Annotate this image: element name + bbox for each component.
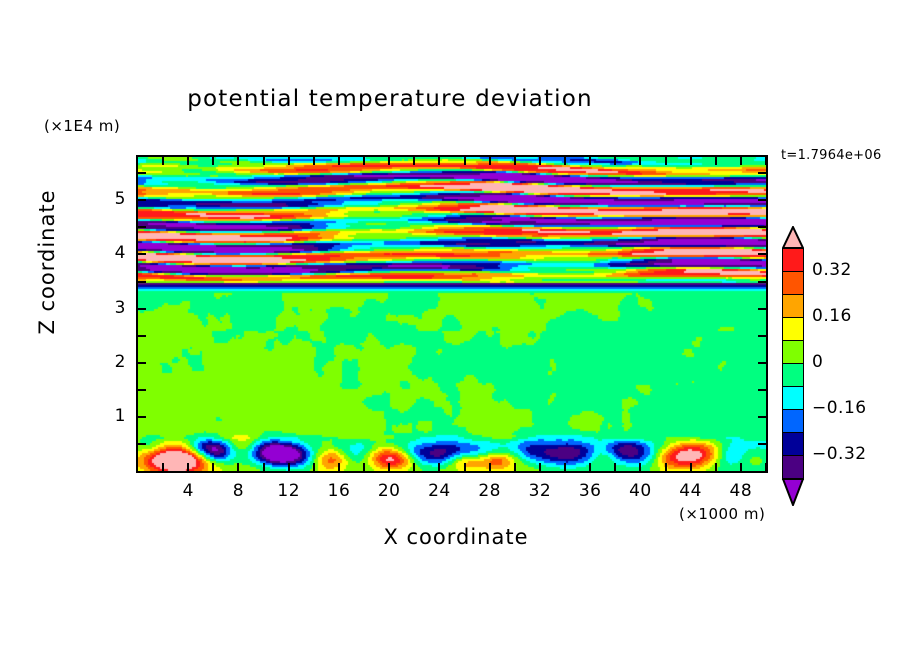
x-tick — [539, 463, 541, 471]
x-tick-top — [539, 157, 541, 165]
x-tick — [489, 463, 491, 471]
y-tick-right — [758, 281, 766, 283]
x-tick-top — [388, 157, 390, 165]
colorbar-band — [782, 340, 804, 365]
y-tick — [138, 308, 146, 310]
y-tick — [138, 172, 146, 174]
x-tick-label: 40 — [618, 481, 662, 501]
x-tick-top — [313, 157, 315, 165]
colorbar: 0.320.160−0.16−0.32 — [782, 226, 804, 505]
y-tick-right — [758, 253, 766, 255]
colorbar-over-arrow — [782, 226, 804, 248]
x-tick-top — [765, 157, 767, 165]
x-tick-top — [212, 157, 214, 165]
x-tick-top — [690, 157, 692, 165]
x-tick — [413, 463, 415, 471]
x-tick-label: 28 — [468, 481, 512, 501]
colorbar-band — [782, 294, 804, 319]
contour-field-canvas — [138, 157, 766, 471]
x-axis-title: X coordinate — [326, 525, 586, 549]
y-tick-right — [758, 416, 766, 418]
colorbar-band — [782, 409, 804, 434]
colorbar-band — [782, 432, 804, 457]
x-tick — [639, 463, 641, 471]
x-tick — [162, 463, 164, 471]
x-tick-top — [288, 157, 290, 165]
x-tick — [212, 463, 214, 471]
y-tick-label: 3 — [96, 298, 126, 318]
colorbar-tick-label: −0.32 — [812, 444, 867, 464]
x-tick — [464, 463, 466, 471]
y-tick-label: 1 — [96, 406, 126, 426]
x-tick — [765, 463, 767, 471]
x-tick-top — [639, 157, 641, 165]
x-tick-top — [564, 157, 566, 165]
y-tick — [138, 281, 146, 283]
x-tick-top — [740, 157, 742, 165]
y-tick — [138, 253, 146, 255]
x-tick — [740, 463, 742, 471]
y-tick-label: 5 — [96, 189, 126, 209]
y-axis-title: Z coordinate — [35, 182, 59, 342]
x-tick-top — [665, 157, 667, 165]
y-tick — [138, 226, 146, 228]
colorbar-band — [782, 386, 804, 411]
timestamp-label: t=1.7964e+06 — [781, 148, 882, 163]
x-tick — [263, 463, 265, 471]
y-tick-right — [758, 362, 766, 364]
y-tick-right — [758, 335, 766, 337]
colorbar-band — [782, 455, 804, 480]
x-tick — [564, 463, 566, 471]
y-tick-right — [758, 172, 766, 174]
y-axis-unit-label: (×1E4 m) — [44, 117, 120, 135]
x-tick — [514, 463, 516, 471]
x-tick-label: 4 — [166, 481, 210, 501]
colorbar-under-arrow — [782, 478, 804, 506]
x-tick-top — [413, 157, 415, 165]
x-tick-top — [162, 157, 164, 165]
x-tick-top — [589, 157, 591, 165]
x-tick — [338, 463, 340, 471]
x-tick-label: 44 — [669, 481, 713, 501]
x-tick-top — [363, 157, 365, 165]
contour-plot-area — [136, 155, 768, 473]
x-axis-unit-label: (×1000 m) — [679, 505, 765, 523]
x-tick-top — [514, 157, 516, 165]
x-tick — [363, 463, 365, 471]
x-tick-top — [614, 157, 616, 165]
y-tick-label: 4 — [96, 243, 126, 263]
y-tick — [138, 416, 146, 418]
x-tick — [388, 463, 390, 471]
x-tick — [187, 463, 189, 471]
colorbar-band — [782, 317, 804, 342]
x-tick — [589, 463, 591, 471]
y-tick — [138, 199, 146, 201]
y-tick — [138, 389, 146, 391]
x-tick — [715, 463, 717, 471]
colorbar-tick-label: −0.16 — [812, 398, 867, 418]
page-title: potential temperature deviation — [0, 86, 780, 112]
x-tick-top — [263, 157, 265, 165]
x-tick — [237, 463, 239, 471]
x-tick — [690, 463, 692, 471]
x-tick-label: 8 — [216, 481, 260, 501]
x-tick-label: 12 — [267, 481, 311, 501]
colorbar-band — [782, 248, 804, 273]
x-tick-top — [464, 157, 466, 165]
x-tick-top — [187, 157, 189, 165]
x-tick-label: 36 — [568, 481, 612, 501]
colorbar-tick-label: 0 — [812, 352, 823, 372]
y-tick-right — [758, 226, 766, 228]
x-tick-top — [489, 157, 491, 165]
x-tick-label: 20 — [367, 481, 411, 501]
x-tick-top — [715, 157, 717, 165]
x-tick-top — [237, 157, 239, 165]
y-tick — [138, 335, 146, 337]
x-tick — [438, 463, 440, 471]
x-tick — [665, 463, 667, 471]
y-tick-right — [758, 389, 766, 391]
x-tick — [288, 463, 290, 471]
y-tick — [138, 362, 146, 364]
x-tick — [614, 463, 616, 471]
x-tick-label: 48 — [719, 481, 763, 501]
x-tick — [313, 463, 315, 471]
x-tick-top — [438, 157, 440, 165]
colorbar-tick-label: 0.32 — [812, 260, 852, 280]
x-tick-label: 32 — [518, 481, 562, 501]
y-tick-right — [758, 443, 766, 445]
y-tick-label: 2 — [96, 352, 126, 372]
x-tick-label: 16 — [317, 481, 361, 501]
y-tick — [138, 443, 146, 445]
colorbar-band — [782, 271, 804, 296]
y-tick-right — [758, 199, 766, 201]
x-tick-label: 24 — [417, 481, 461, 501]
y-tick-right — [758, 308, 766, 310]
colorbar-band — [782, 363, 804, 388]
colorbar-tick-label: 0.16 — [812, 306, 852, 326]
x-tick-top — [338, 157, 340, 165]
